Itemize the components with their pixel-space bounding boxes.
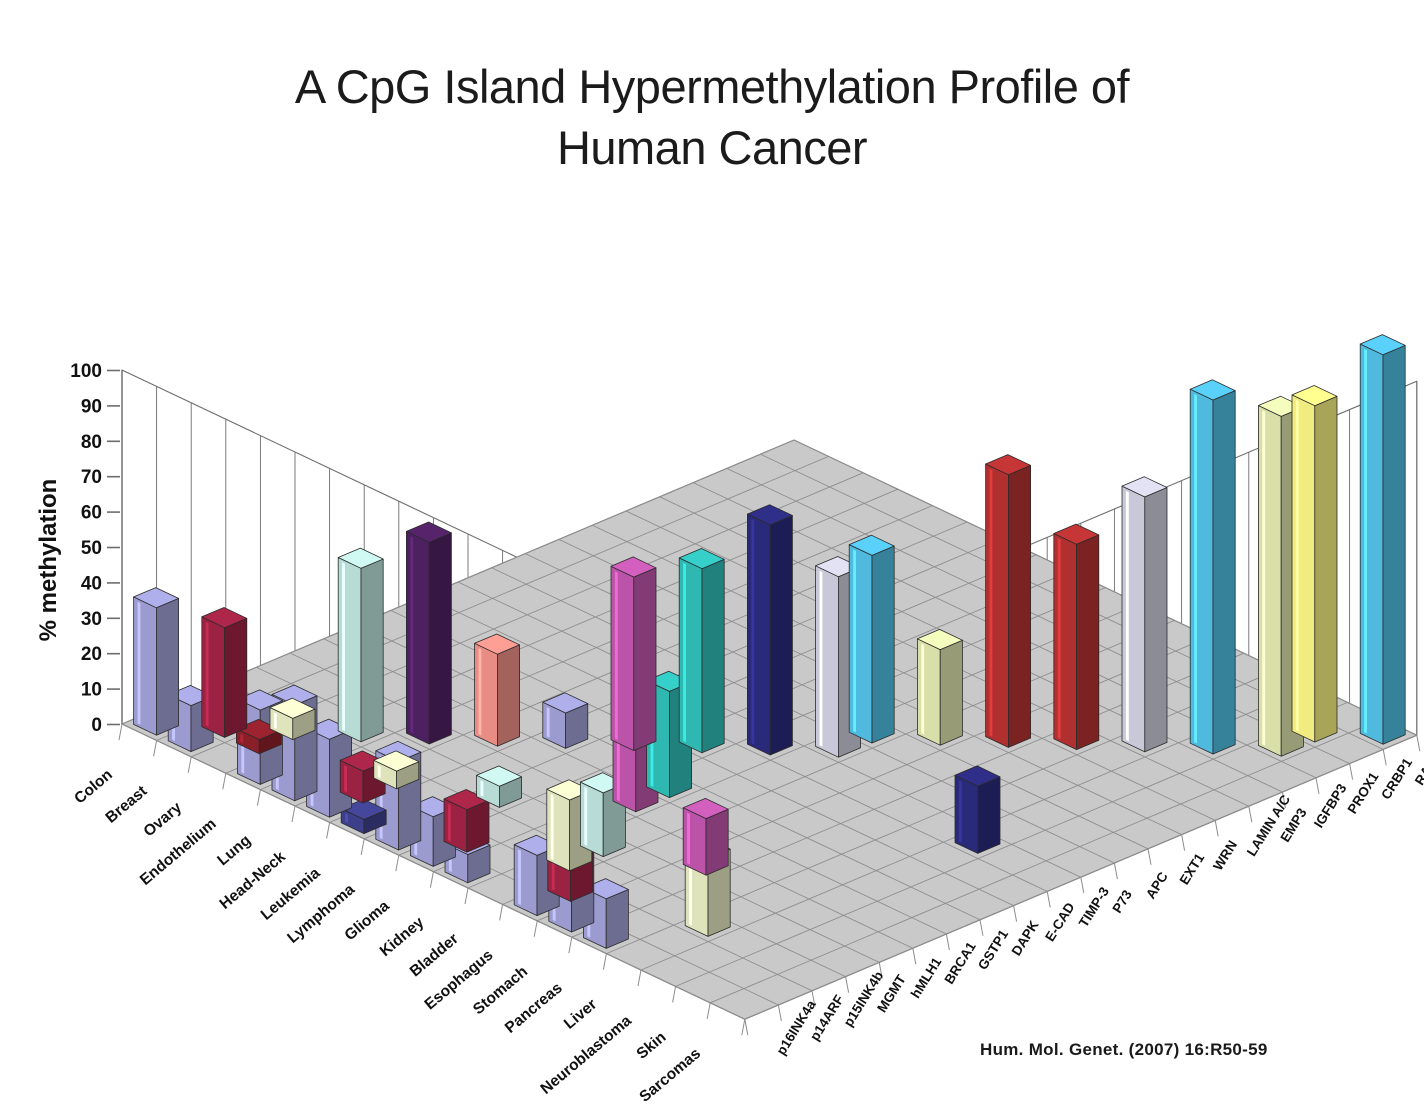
bar bbox=[406, 522, 451, 744]
y-axis-tick-label: 60 bbox=[81, 503, 102, 524]
bar-front-face bbox=[1054, 534, 1077, 750]
bar-highlight bbox=[584, 787, 587, 846]
gene-axis-tick bbox=[980, 920, 983, 936]
gene-axis-tick bbox=[1383, 749, 1386, 765]
methylation-3d-bar-chart: 0102030405060708090100% methylation Colo… bbox=[0, 0, 1424, 1116]
bar-front-face bbox=[683, 808, 706, 876]
bar bbox=[679, 549, 724, 753]
bar bbox=[1122, 477, 1167, 752]
gene-axis-tick bbox=[778, 1005, 781, 1021]
bar-highlight bbox=[751, 519, 754, 745]
bar-highlight bbox=[378, 765, 381, 778]
tissue-axis-tick bbox=[569, 937, 572, 953]
bar-front-face bbox=[747, 514, 770, 755]
y-axis-tick-label: 90 bbox=[81, 396, 102, 417]
gene-axis-label: BRCA1 bbox=[941, 939, 979, 987]
bar-highlight bbox=[853, 549, 856, 732]
gene-axis-label: TIMP-3 bbox=[1076, 884, 1112, 930]
tissue-axis-tick bbox=[430, 872, 433, 888]
bar-highlight bbox=[206, 622, 209, 727]
gene-axis-tick bbox=[1215, 820, 1218, 836]
gene-axis-label: EXT1 bbox=[1177, 850, 1208, 887]
tissue-axis-label: Glioma bbox=[341, 897, 392, 944]
bar bbox=[611, 557, 656, 751]
bar-front-face bbox=[475, 643, 498, 746]
tissue-axis-label: Liver bbox=[561, 996, 600, 1033]
tissue-axis-tick bbox=[707, 1003, 710, 1019]
tissue-axis-label: Lung bbox=[214, 832, 254, 869]
bar-highlight bbox=[551, 794, 554, 860]
bar-front-face bbox=[986, 464, 1009, 747]
bar-highlight bbox=[1058, 538, 1061, 739]
bar-side-face bbox=[978, 777, 1000, 854]
gene-axis-tick bbox=[1081, 877, 1084, 893]
tissue-axis-tick bbox=[223, 773, 226, 789]
bar-highlight bbox=[1296, 400, 1299, 732]
tissue-axis-tick bbox=[534, 921, 537, 937]
bar bbox=[986, 455, 1031, 748]
bar bbox=[917, 629, 962, 745]
bar-highlight bbox=[687, 813, 690, 865]
bar-side-face bbox=[1383, 345, 1405, 744]
bar-side-face bbox=[606, 890, 628, 949]
bar-highlight bbox=[615, 571, 618, 740]
bar-front-face bbox=[849, 545, 872, 743]
bar-highlight bbox=[481, 780, 484, 797]
chart-root: A CpG Island Hypermethylation Profile of… bbox=[0, 0, 1424, 1116]
bar-highlight bbox=[274, 712, 277, 729]
bar-highlight bbox=[820, 571, 823, 747]
y-axis-tick-label: 50 bbox=[81, 538, 102, 559]
bar-highlight bbox=[448, 804, 451, 842]
bar-side-face bbox=[1008, 465, 1030, 747]
bar-front-face bbox=[955, 775, 978, 853]
bar-side-face bbox=[361, 559, 383, 742]
bar-front-face bbox=[1122, 486, 1145, 752]
tissue-axis-tick bbox=[327, 822, 330, 838]
tissue-axis-tick bbox=[673, 986, 676, 1002]
gene-axis-tick bbox=[1182, 835, 1185, 851]
bar-front-face bbox=[1292, 395, 1315, 742]
gene-axis-label: CRBP1 bbox=[1378, 755, 1415, 802]
bar-front-face bbox=[1360, 344, 1383, 744]
tissue-axis-tick bbox=[154, 740, 157, 756]
y-axis-tick-label: 80 bbox=[81, 432, 102, 453]
gene-axis-tick bbox=[1417, 735, 1420, 751]
bar-side-face bbox=[156, 598, 178, 735]
bar-highlight bbox=[345, 814, 348, 824]
tissue-axis-label: Skin bbox=[633, 1029, 669, 1063]
bar-front-face bbox=[514, 845, 537, 916]
bar-highlight bbox=[990, 469, 993, 737]
gene-axis-label: E-CAD bbox=[1042, 900, 1078, 944]
bar bbox=[849, 535, 894, 743]
bar-highlight bbox=[547, 707, 550, 738]
gene-axis-tick bbox=[1114, 863, 1117, 879]
bar-highlight bbox=[959, 780, 962, 843]
bar-highlight bbox=[921, 644, 924, 735]
tissue-axis-label: Neuroblastoma bbox=[538, 1012, 636, 1098]
bar-front-face bbox=[134, 597, 157, 735]
y-axis-tick-label: 30 bbox=[81, 609, 102, 630]
bar bbox=[1360, 335, 1405, 745]
bar-highlight bbox=[344, 765, 347, 792]
bar bbox=[683, 798, 728, 875]
tissue-axis-label: Breast bbox=[103, 783, 151, 827]
gene-axis-tick bbox=[913, 948, 916, 964]
tissue-axis-tick bbox=[742, 1019, 745, 1035]
gene-axis-label: GSTP1 bbox=[975, 927, 1011, 973]
gene-axis-tick bbox=[1249, 806, 1252, 822]
gene-axis-label: APC bbox=[1143, 869, 1171, 901]
y-axis: 0102030405060708090100% methylation bbox=[35, 361, 122, 736]
bar-highlight bbox=[683, 563, 686, 743]
y-axis-tick-label: 10 bbox=[81, 680, 102, 701]
bar-side-face bbox=[1077, 535, 1099, 750]
bar-side-face bbox=[1145, 488, 1167, 752]
bar bbox=[955, 766, 1000, 854]
gene-axis-tick bbox=[946, 934, 949, 950]
tissue-axis-tick bbox=[257, 790, 260, 806]
bar-front-face bbox=[202, 617, 225, 738]
bar-highlight bbox=[138, 602, 141, 725]
bar bbox=[134, 588, 179, 736]
tissue-axis-tick bbox=[638, 970, 641, 986]
tissue-axis-tick bbox=[396, 855, 399, 871]
tissue-axis-label: Kidney bbox=[377, 914, 428, 960]
bar-side-face bbox=[770, 516, 792, 756]
bar-highlight bbox=[1262, 410, 1265, 745]
bar bbox=[475, 634, 520, 746]
gene-axis-label: hMLH1 bbox=[908, 954, 945, 1001]
bar-front-face bbox=[1258, 406, 1281, 757]
gene-axis-label: IGFBP3 bbox=[1311, 781, 1350, 831]
bar bbox=[1292, 386, 1337, 743]
bar-side-face bbox=[1213, 391, 1235, 754]
tissue-axis-tick bbox=[465, 888, 468, 904]
gene-axis-label: P73 bbox=[1109, 887, 1135, 916]
bar bbox=[202, 608, 247, 738]
y-axis-tick-label: 0 bbox=[91, 715, 102, 736]
bar-front-face bbox=[611, 566, 634, 750]
tissue-axis-tick bbox=[292, 806, 295, 822]
gene-axis-tick bbox=[745, 1019, 748, 1035]
bar bbox=[543, 693, 588, 749]
bar bbox=[1054, 524, 1099, 750]
bar-side-face bbox=[634, 568, 656, 751]
bar bbox=[338, 548, 383, 742]
tissue-axis-tick bbox=[188, 757, 191, 773]
bar-highlight bbox=[518, 849, 521, 905]
y-axis-tick-label: 70 bbox=[81, 467, 102, 488]
gene-axis-label: PROX1 bbox=[1345, 769, 1382, 816]
gene-axis-tick bbox=[1350, 764, 1353, 780]
citation-text: Hum. Mol. Genet. (2007) 16:R50-59 bbox=[980, 1040, 1268, 1060]
bar-side-face bbox=[497, 645, 519, 746]
gene-axis-tick bbox=[1148, 849, 1151, 865]
bar-side-face bbox=[872, 546, 894, 743]
bar-front-face bbox=[917, 639, 940, 745]
gene-axis-label: p14ARF bbox=[807, 992, 847, 1043]
bar-front-face bbox=[338, 558, 361, 742]
bar-side-face bbox=[706, 809, 728, 875]
bar-front-face bbox=[547, 789, 570, 871]
y-axis-title: % methylation bbox=[35, 479, 62, 642]
gene-axis-tick bbox=[1316, 778, 1319, 794]
gene-axis-label: WRN bbox=[1210, 838, 1240, 873]
bar-highlight bbox=[342, 562, 345, 731]
gene-axis-tick bbox=[1014, 906, 1017, 922]
tissue-axis-tick bbox=[119, 724, 122, 740]
tissue-axis-label: Ovary bbox=[140, 799, 185, 841]
gene-axis-tick bbox=[1047, 891, 1050, 907]
bar bbox=[1190, 380, 1235, 754]
tissue-axis-tick bbox=[500, 904, 503, 920]
bar-highlight bbox=[479, 648, 482, 735]
gene-axis-tick bbox=[846, 977, 849, 993]
y-axis-tick-label: 20 bbox=[81, 644, 102, 665]
bar-side-face bbox=[1315, 396, 1337, 742]
bar bbox=[747, 505, 792, 755]
y-axis-tick-label: 100 bbox=[70, 361, 102, 382]
bar-highlight bbox=[1126, 491, 1129, 741]
bar-front-face bbox=[816, 566, 839, 757]
tissue-axis-tick bbox=[603, 954, 606, 970]
bar-highlight bbox=[410, 536, 413, 733]
tissue-axis-tick bbox=[361, 839, 364, 855]
bar-side-face bbox=[702, 559, 724, 753]
gene-axis-label: DAPK bbox=[1009, 918, 1042, 959]
bar-highlight bbox=[240, 734, 243, 744]
bar-side-face bbox=[225, 618, 247, 737]
bar-front-face bbox=[679, 558, 702, 753]
bar-highlight bbox=[1364, 349, 1367, 734]
bar-front-face bbox=[580, 782, 603, 857]
bar-side-face bbox=[940, 640, 962, 745]
y-axis-tick-label: 40 bbox=[81, 573, 102, 594]
tissue-axis-label: Colon bbox=[71, 766, 116, 807]
bar-side-face bbox=[429, 533, 451, 744]
bar-front-face bbox=[1190, 389, 1213, 754]
bar-highlight bbox=[1194, 394, 1197, 743]
bar-front-face bbox=[406, 531, 429, 744]
